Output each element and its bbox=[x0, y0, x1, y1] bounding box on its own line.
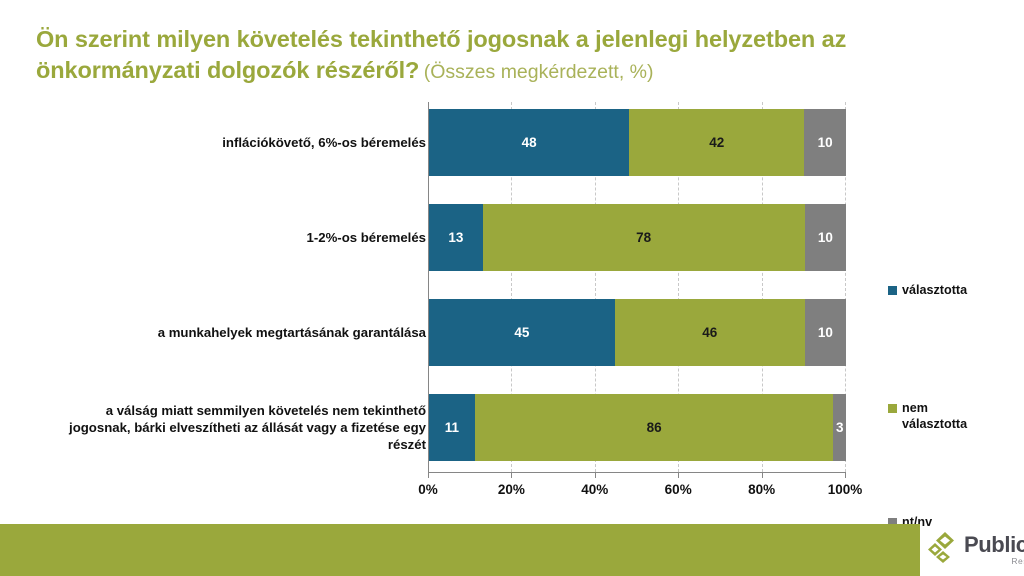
bar-segment-v-lasztotta[interactable]: 11 bbox=[429, 394, 475, 461]
x-axis-tick-mark bbox=[595, 472, 596, 478]
logo-name: Publicus bbox=[964, 534, 1024, 556]
bar-segment-nt-nv[interactable]: 10 bbox=[805, 204, 846, 271]
logo-tagline: Research bbox=[964, 557, 1024, 566]
x-axis-tick-label: 40% bbox=[563, 482, 627, 497]
legend-item[interactable]: választotta bbox=[888, 282, 967, 298]
bar-segment-nt-nv[interactable]: 10 bbox=[804, 109, 846, 176]
legend-swatch-icon bbox=[888, 404, 897, 413]
page-title: Ön szerint milyen követelés tekinthető j… bbox=[36, 24, 988, 85]
bar-segment-v-lasztotta[interactable]: 13 bbox=[429, 204, 483, 271]
bar-segment-nem-v-lasztotta[interactable]: 42 bbox=[629, 109, 804, 176]
x-axis-tick-label: 20% bbox=[479, 482, 543, 497]
x-axis-tick-label: 80% bbox=[730, 482, 794, 497]
category-label: a válság miatt semmilyen követelés nem t… bbox=[66, 398, 426, 458]
x-axis-tick-mark bbox=[511, 472, 512, 478]
x-axis-tick-mark bbox=[762, 472, 763, 478]
bar-row[interactable]: 11863 bbox=[429, 394, 846, 461]
x-axis-tick-mark bbox=[678, 472, 679, 478]
diamond-cluster-icon bbox=[928, 531, 958, 568]
bar-segment-nem-v-lasztotta[interactable]: 86 bbox=[475, 394, 834, 461]
category-label: 1-2%-os béremelés bbox=[66, 208, 426, 268]
x-axis-tick-label: 60% bbox=[646, 482, 710, 497]
legend-swatch-icon bbox=[888, 286, 897, 295]
slide: Ön szerint milyen követelés tekinthető j… bbox=[0, 0, 1024, 576]
x-axis-tick-label: 0% bbox=[396, 482, 460, 497]
category-label: a munkahelyek megtartásának garantálása bbox=[66, 303, 426, 363]
bar-row[interactable]: 137810 bbox=[429, 204, 846, 271]
bar-segment-nem-v-lasztotta[interactable]: 46 bbox=[615, 299, 805, 366]
bar-segment-nt-nv[interactable]: 10 bbox=[805, 299, 846, 366]
legend-item[interactable]: nem választotta bbox=[888, 400, 967, 433]
bar-segment-nem-v-lasztotta[interactable]: 78 bbox=[483, 204, 805, 271]
legend-label: választotta bbox=[902, 282, 967, 298]
bar-segment-v-lasztotta[interactable]: 45 bbox=[429, 299, 615, 366]
bar-row[interactable]: 484210 bbox=[429, 109, 846, 176]
footer-band bbox=[0, 524, 920, 576]
x-axis-line bbox=[428, 472, 846, 473]
bar-segment-nt-nv[interactable]: 3 bbox=[833, 394, 846, 461]
plot-area: 48421013781045461011863 0%20%40%60%80%10… bbox=[428, 102, 845, 472]
x-axis-tick-label: 100% bbox=[813, 482, 877, 497]
category-label: inflációkövető, 6%-os béremelés bbox=[66, 113, 426, 173]
x-axis-tick-mark bbox=[428, 472, 429, 478]
page-title-subtitle: (Összes megkérdezett, %) bbox=[424, 61, 654, 83]
logo-wordmark: Publicus Research bbox=[964, 534, 1024, 566]
x-axis-tick-mark bbox=[845, 472, 846, 478]
bar-segment-v-lasztotta[interactable]: 48 bbox=[429, 109, 629, 176]
publicus-research-logo: Publicus Research bbox=[928, 531, 1024, 568]
chart: 48421013781045461011863 0%20%40%60%80%10… bbox=[0, 96, 1024, 506]
legend-label: nem választotta bbox=[902, 400, 967, 433]
bar-row[interactable]: 454610 bbox=[429, 299, 846, 366]
